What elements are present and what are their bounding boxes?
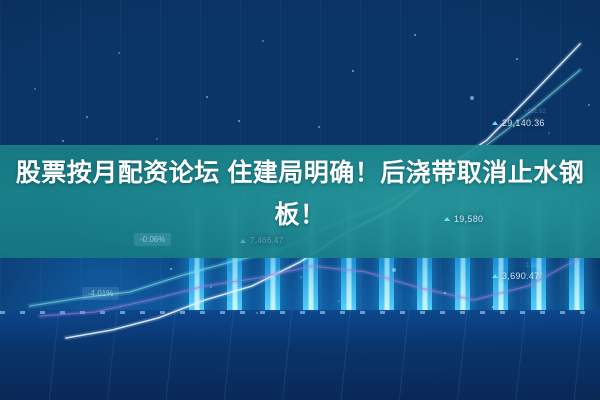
micro-label-2: -1.16: [524, 262, 538, 270]
particle-dot: [352, 70, 354, 72]
particle-dot: [300, 276, 302, 278]
value-label-text: 29,140.36: [502, 118, 545, 128]
micro-label-0: +591.62: [524, 108, 546, 116]
particle-dot: [414, 34, 416, 36]
value-label-7466: 7,466.47: [240, 236, 284, 245]
triangle-up-icon: [492, 274, 498, 278]
triangle-up-icon: [492, 121, 498, 125]
particle-dot: [256, 312, 258, 314]
particle-dot: [392, 268, 396, 272]
particle-dot: [318, 126, 320, 128]
particle-dot: [444, 292, 446, 294]
headline-line-1: 股票按月配资论坛 住建局明确！后浇带取消止水钢: [16, 159, 584, 187]
value-label-text: 3,690.47: [502, 271, 539, 281]
particle-dot: [206, 96, 208, 98]
particle-dot: [86, 116, 88, 118]
particle-dot: [516, 58, 518, 60]
triangle-up-icon: [240, 239, 246, 243]
particle-dot: [470, 96, 474, 100]
particle-dot: [34, 88, 36, 90]
particle-dot: [262, 40, 264, 42]
particle-dot: [588, 104, 590, 106]
headline-line-2: 板！: [274, 201, 325, 229]
particle-dot: [210, 286, 212, 288]
particle-dot: [338, 300, 340, 302]
page-title: 股票按月配资论坛 住建局明确！后浇带取消止水钢 板！: [0, 152, 600, 236]
percent-chip-negative: -4.01%: [82, 287, 119, 300]
particle-dot: [492, 306, 494, 308]
particle-dot: [156, 138, 158, 140]
particle-dot: [548, 132, 550, 134]
particle-dot: [118, 52, 120, 54]
particle-dot: [238, 120, 240, 122]
value-label-29140: 29,140.36: [492, 118, 545, 128]
particle-dot: [62, 140, 64, 142]
particle-dot: [170, 268, 172, 270]
banner-image: +591.62 +2.08% -1.16 -0.03% 29,140.36 3,…: [0, 0, 600, 400]
value-label-text: 7,466.47: [250, 236, 284, 245]
value-label-3690: 3,690.47: [492, 271, 539, 281]
